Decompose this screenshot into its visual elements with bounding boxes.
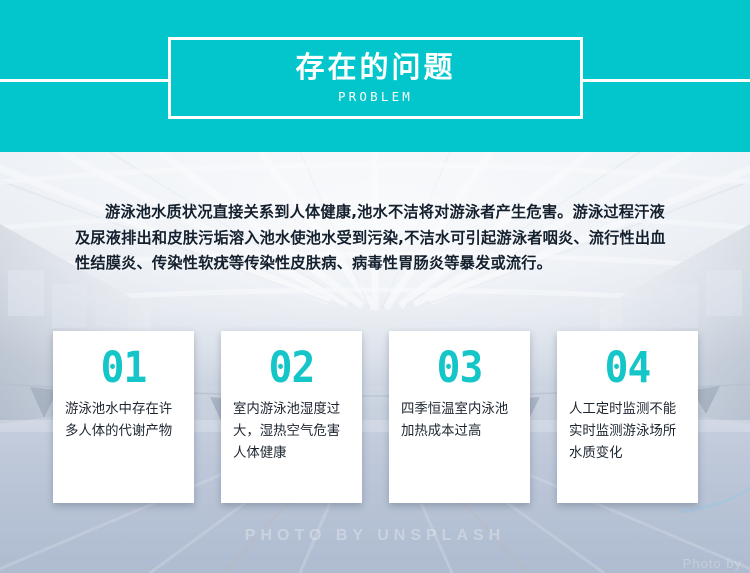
unsplash-watermark: PHOTO BY UNSPLASH xyxy=(0,527,750,545)
problem-card-01[interactable]: 01 游泳池水中存在许多人体的代谢产物 xyxy=(53,331,194,503)
photo-credit-watermark: Photo by xyxy=(683,556,742,571)
intro-paragraph: 游泳池水质状况直接关系到人体健康,池水不洁将对游泳者产生危害。游泳过程汗液及尿液… xyxy=(75,200,675,277)
problem-card-02[interactable]: 02 室内游泳池湿度过大，湿热空气危害人体健康 xyxy=(221,331,362,503)
problem-card-03[interactable]: 03 四季恒温室内泳池加热成本过高 xyxy=(389,331,530,503)
header-banner: 存在的问题 PROBLEM xyxy=(0,0,750,152)
card-number-01: 01 xyxy=(70,343,178,393)
card-text-01: 游泳池水中存在许多人体的代谢产物 xyxy=(65,399,182,443)
card-text-04: 人工定时监测不能实时监测游泳场所水质变化 xyxy=(569,399,686,465)
banner-rule-right xyxy=(583,79,750,82)
banner-rule-left xyxy=(0,79,168,82)
card-number-04: 04 xyxy=(574,343,682,393)
title-frame: 存在的问题 PROBLEM xyxy=(168,37,583,119)
card-number-03: 03 xyxy=(406,343,514,393)
slide-root: 存在的问题 PROBLEM xyxy=(0,0,750,573)
card-text-02: 室内游泳池湿度过大，湿热空气危害人体健康 xyxy=(233,399,350,465)
page-subtitle: PROBLEM xyxy=(338,89,413,104)
problem-card-04[interactable]: 04 人工定时监测不能实时监测游泳场所水质变化 xyxy=(557,331,698,503)
problem-card-list: 01 游泳池水中存在许多人体的代谢产物 02 室内游泳池湿度过大，湿热空气危害人… xyxy=(53,331,698,503)
page-title: 存在的问题 xyxy=(295,52,455,82)
card-text-03: 四季恒温室内泳池加热成本过高 xyxy=(401,399,518,443)
card-number-02: 02 xyxy=(238,343,346,393)
intro-paragraph-text: 游泳池水质状况直接关系到人体健康,池水不洁将对游泳者产生危害。游泳过程汗液及尿液… xyxy=(75,200,675,277)
